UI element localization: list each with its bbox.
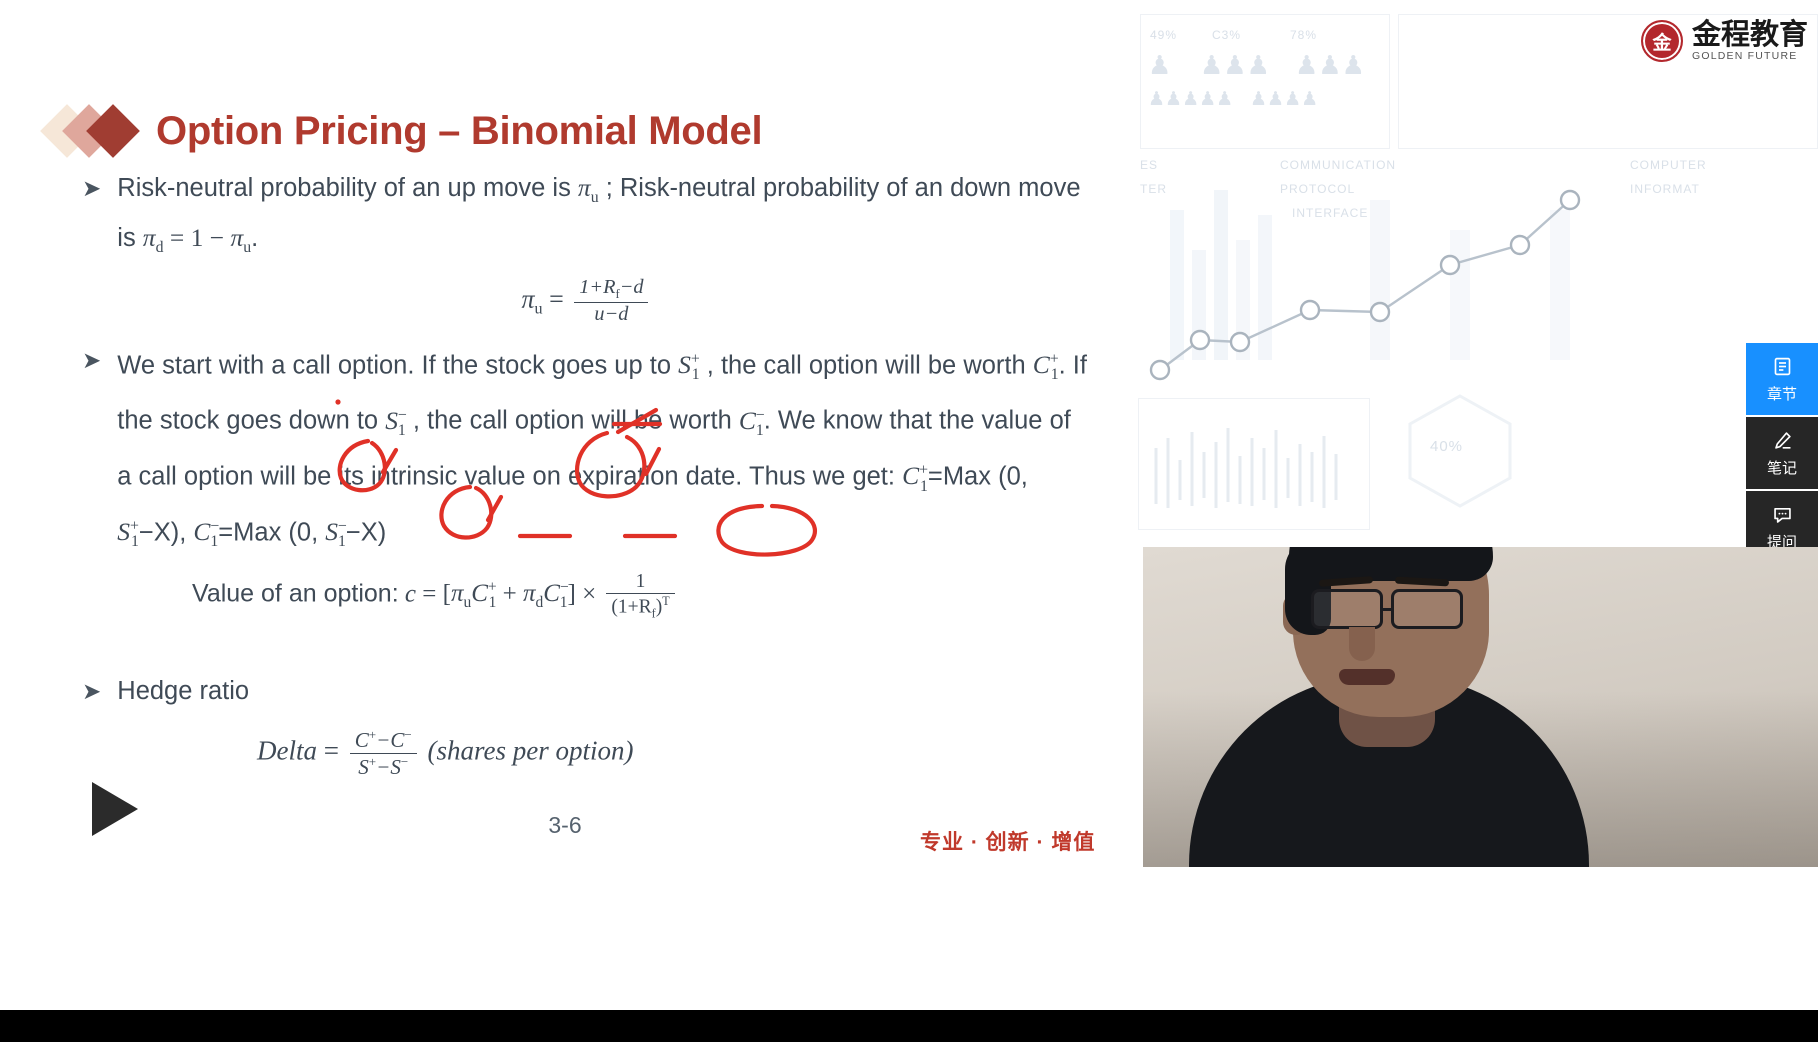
text-fragment: , the call option will be worth: [700, 351, 1033, 379]
symbol-pi-d-val: πd: [523, 580, 543, 607]
formula-equals: =: [549, 285, 564, 314]
stat-label: 78%: [1290, 28, 1317, 42]
person-glyph-icon: ♟♟♟♟: [1250, 88, 1318, 111]
stat-label: 49%: [1150, 28, 1177, 42]
bullet-arrow-icon: ➤: [82, 340, 101, 562]
bullet-call-option: ➤ We start with a call option. If the st…: [82, 340, 1092, 562]
text-fragment: −X),: [139, 518, 194, 546]
formula-denominator: u−d: [574, 302, 648, 327]
stat-label: 40%: [1430, 438, 1463, 455]
text-fragment: = 1 −: [163, 223, 230, 252]
stat-label: C3%: [1212, 28, 1241, 42]
formula-delta-fraction: C+−C− S+−S−: [350, 727, 417, 780]
comment-dots-icon: [1771, 503, 1794, 526]
symbol-pi-u-val: πu: [451, 580, 471, 607]
symbol-c1-plus: C+1: [1033, 350, 1059, 379]
slide-title-row: Option Pricing – Binomial Model: [48, 100, 762, 162]
text-fragment: =Max (0,: [928, 462, 1028, 490]
sidebar-item-chapters-label: 章节: [1767, 383, 1797, 404]
formula-numerator: 1+Rf−d: [574, 276, 648, 302]
instructor-mouth: [1339, 669, 1395, 685]
bullet-risk-neutral: ➤ Risk-neutral probability of an up move…: [82, 168, 1092, 268]
text-fragment: , the call option will be worth: [406, 407, 739, 435]
pencil-icon: [1771, 429, 1794, 452]
symbol-s1-minus: S−1: [385, 406, 406, 435]
symbol-c1-minus-result: C−1: [193, 517, 218, 546]
text-fragment: =Max (0,: [218, 518, 325, 546]
seal-icon: 金: [1641, 20, 1683, 62]
instructor-video-feed[interactable]: [1143, 547, 1818, 867]
person-glyph-icon: ♟♟♟: [1295, 50, 1365, 81]
text-fragment: We start with a call option. If the stoc…: [117, 351, 678, 379]
symbol-c1-plus-result: C+1: [902, 461, 928, 490]
bullet-call-option-text: We start with a call option. If the stoc…: [117, 340, 1092, 562]
brand-name-en: GOLDEN FUTURE: [1692, 50, 1808, 62]
symbol-pi-u-2: πu: [230, 223, 251, 252]
bullet-risk-neutral-text: Risk-neutral probability of an up move i…: [117, 168, 1092, 268]
sidebar-item-chapters[interactable]: 章节: [1746, 343, 1818, 415]
formula-discount-fraction: 1 (1+Rf)T: [606, 570, 674, 621]
formula-discount-denominator: (1+Rf)T: [606, 593, 674, 621]
formula-delta-denominator: S+−S−: [350, 753, 417, 780]
symbol-s1-plus: S+1: [678, 350, 700, 379]
formula-pi-lhs: π: [522, 285, 535, 314]
sidebar-item-notes[interactable]: 笔记: [1746, 417, 1818, 489]
bullet-arrow-icon: ➤: [82, 671, 101, 711]
formula-option-value: Value of an option: c = [πuC+1 + πdC−1] …: [192, 568, 1092, 623]
bottom-letterbox-bar: [0, 1010, 1818, 1042]
symbol-s1-minus-2: S−1: [325, 517, 346, 546]
slide-body: ➤ Risk-neutral probability of an up move…: [82, 168, 1092, 780]
text-fragment: −X): [346, 518, 386, 546]
instructor-nose: [1349, 627, 1375, 661]
person-glyph-icon: ♟: [1148, 50, 1171, 81]
formula-delta-numerator: C+−C−: [350, 727, 417, 753]
formula-delta-note: (shares per option): [428, 736, 634, 766]
symbol-c1-minus-val: C−1: [543, 580, 567, 607]
formula-fraction: 1+Rf−d u−d: [574, 276, 648, 327]
symbol-c: c: [405, 580, 416, 607]
sidebar-item-notes-label: 笔记: [1767, 457, 1797, 478]
bg-line-chart: [1130, 170, 1818, 390]
stat-card-people: [1140, 14, 1390, 149]
person-glyph-icon: ♟♟♟: [1200, 50, 1270, 81]
list-document-icon: [1771, 355, 1794, 378]
formula-delta: Delta = C+−C− S+−S− (shares per option): [257, 727, 1092, 780]
formula-equals: =: [422, 580, 436, 607]
text-fragment: Risk-neutral probability of an up move i…: [117, 174, 578, 202]
right-sidebar: 章节 笔记 提问: [1746, 343, 1818, 563]
symbol-c1-plus-val: C+1: [471, 580, 496, 607]
person-glyph-icon: ♟♟♟♟♟: [1148, 88, 1233, 111]
diamond-decoration-icon: [48, 100, 156, 162]
page-title: Option Pricing – Binomial Model: [156, 109, 762, 154]
lecture-player-window: Option Pricing – Binomial Model ➤ Risk-n…: [0, 0, 1818, 1042]
brand-name-cn: 金程教育: [1692, 20, 1808, 50]
symbol-pi-d: πd: [143, 223, 164, 252]
slogan-text: 专业 · 创新 · 增值: [920, 826, 1095, 856]
slide-panel: Option Pricing – Binomial Model ➤ Risk-n…: [0, 0, 1322, 1010]
bg-candles: [1144, 408, 1364, 526]
formula-pi-u: πu = 1+Rf−d u−d: [82, 276, 1092, 330]
bullet-hedge-ratio-text: Hedge ratio: [117, 671, 1092, 711]
symbol-c1-minus: C−1: [739, 406, 764, 435]
bullet-arrow-icon: ➤: [82, 168, 101, 268]
instructor-glasses-bridge: [1383, 608, 1393, 612]
text-fragment: .: [251, 224, 258, 252]
instructor-glasses-left: [1311, 589, 1383, 629]
bullet-hedge-ratio: ➤ Hedge ratio: [82, 671, 1092, 711]
instructor-glasses-right: [1391, 589, 1463, 629]
symbol-pi-u: πu: [578, 173, 599, 202]
hedge-ratio-block: ➤ Hedge ratio Delta = C+−C− S+−S− (share…: [82, 671, 1092, 780]
brand-logo: 金 金程教育 GOLDEN FUTURE: [1641, 20, 1808, 62]
symbol-s1-plus-2: S+1: [117, 517, 139, 546]
formula-delta-lhs: Delta: [257, 736, 317, 766]
formula-value-label: Value of an option:: [192, 579, 399, 607]
